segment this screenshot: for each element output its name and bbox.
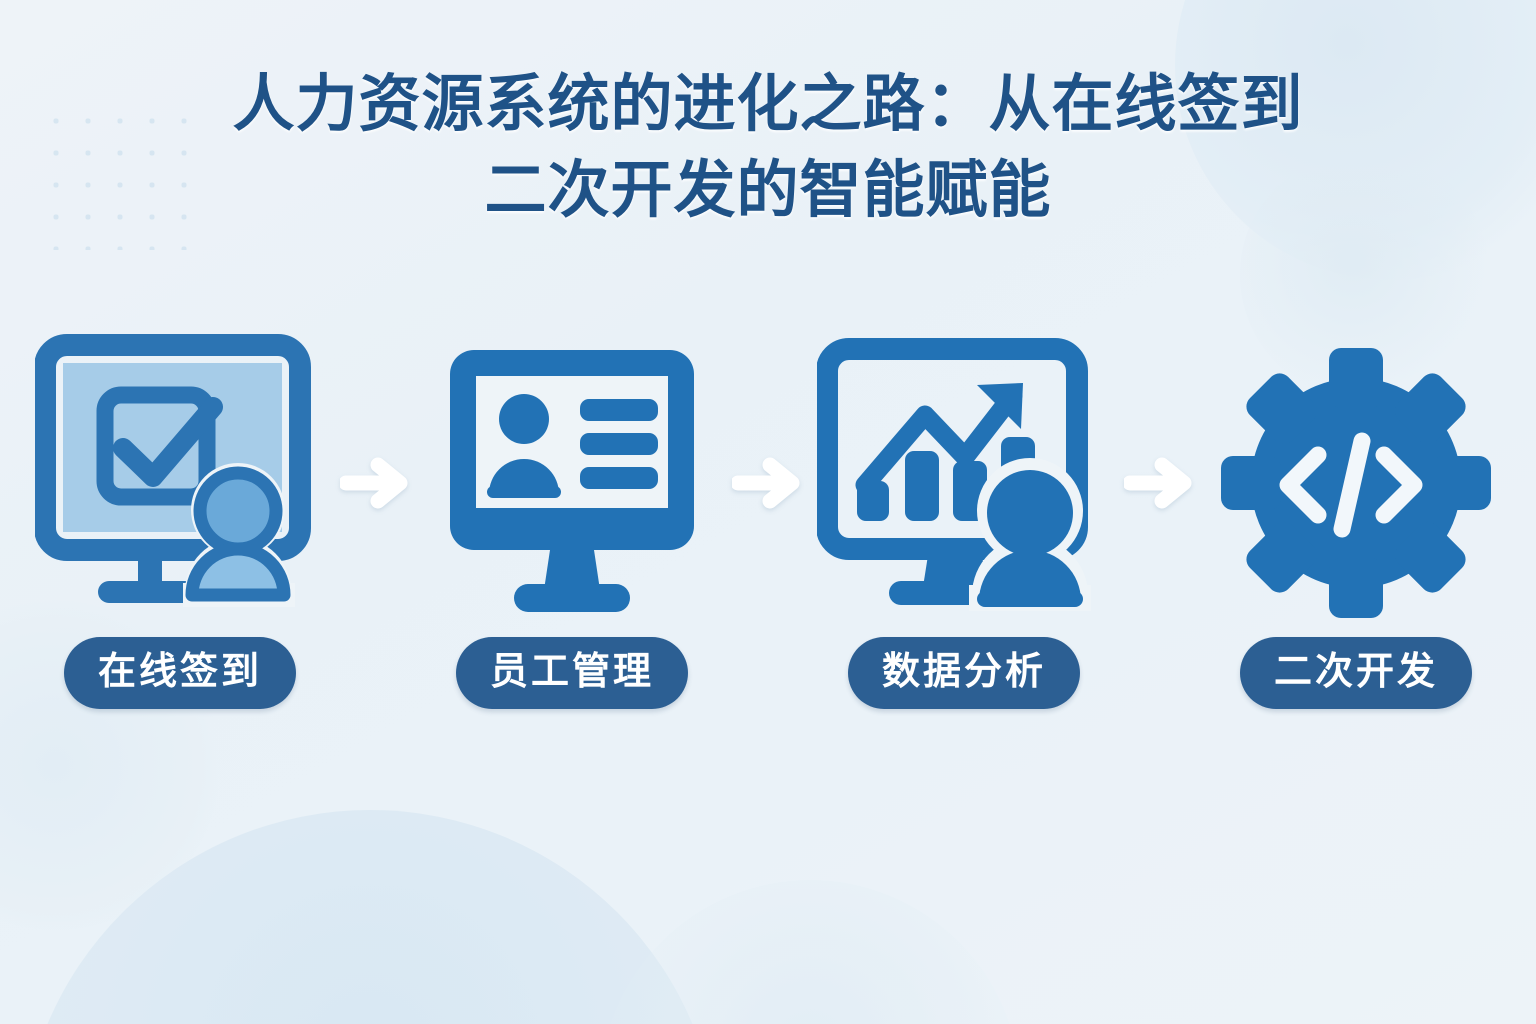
arrow-right-icon [1124,453,1196,513]
page-title-line-2: 二次开发的智能赋能 [0,148,1536,234]
flow-step-label[interactable]: 在线签到 [64,637,296,709]
page-title: 人力资源系统的进化之路：从在线签到 二次开发的智能赋能 [0,62,1536,233]
flow-step-label[interactable]: 二次开发 [1240,637,1472,709]
decorative-circle-bottom-middle [600,880,1020,1024]
gear-code-icon [1206,330,1506,635]
flow-step-secondary-development[interactable]: 二次开发 [1206,330,1506,709]
monitor-bar-chart-user-icon [814,330,1114,635]
page-title-line-1: 人力资源系统的进化之路：从在线签到 [0,62,1536,148]
flow-step-online-checkin[interactable]: 在线签到 [30,330,330,709]
decorative-circle-bottom-left-large [20,810,720,1024]
flow-step-label[interactable]: 员工管理 [456,637,688,709]
process-flow: 在线签到 [0,330,1536,730]
monitor-id-card-icon [422,330,722,635]
flow-arrow-3 [1114,330,1206,635]
monitor-checkbox-user-icon [30,330,330,635]
flow-step-employee-management[interactable]: 员工管理 [422,330,722,709]
flow-arrow-2 [722,330,814,635]
arrow-right-icon [732,453,804,513]
flow-step-data-analysis[interactable]: 数据分析 [814,330,1114,709]
arrow-right-icon [340,453,412,513]
infographic-canvas: 人力资源系统的进化之路：从在线签到 二次开发的智能赋能 [0,0,1536,1024]
flow-arrow-1 [330,330,422,635]
flow-step-label[interactable]: 数据分析 [848,637,1080,709]
